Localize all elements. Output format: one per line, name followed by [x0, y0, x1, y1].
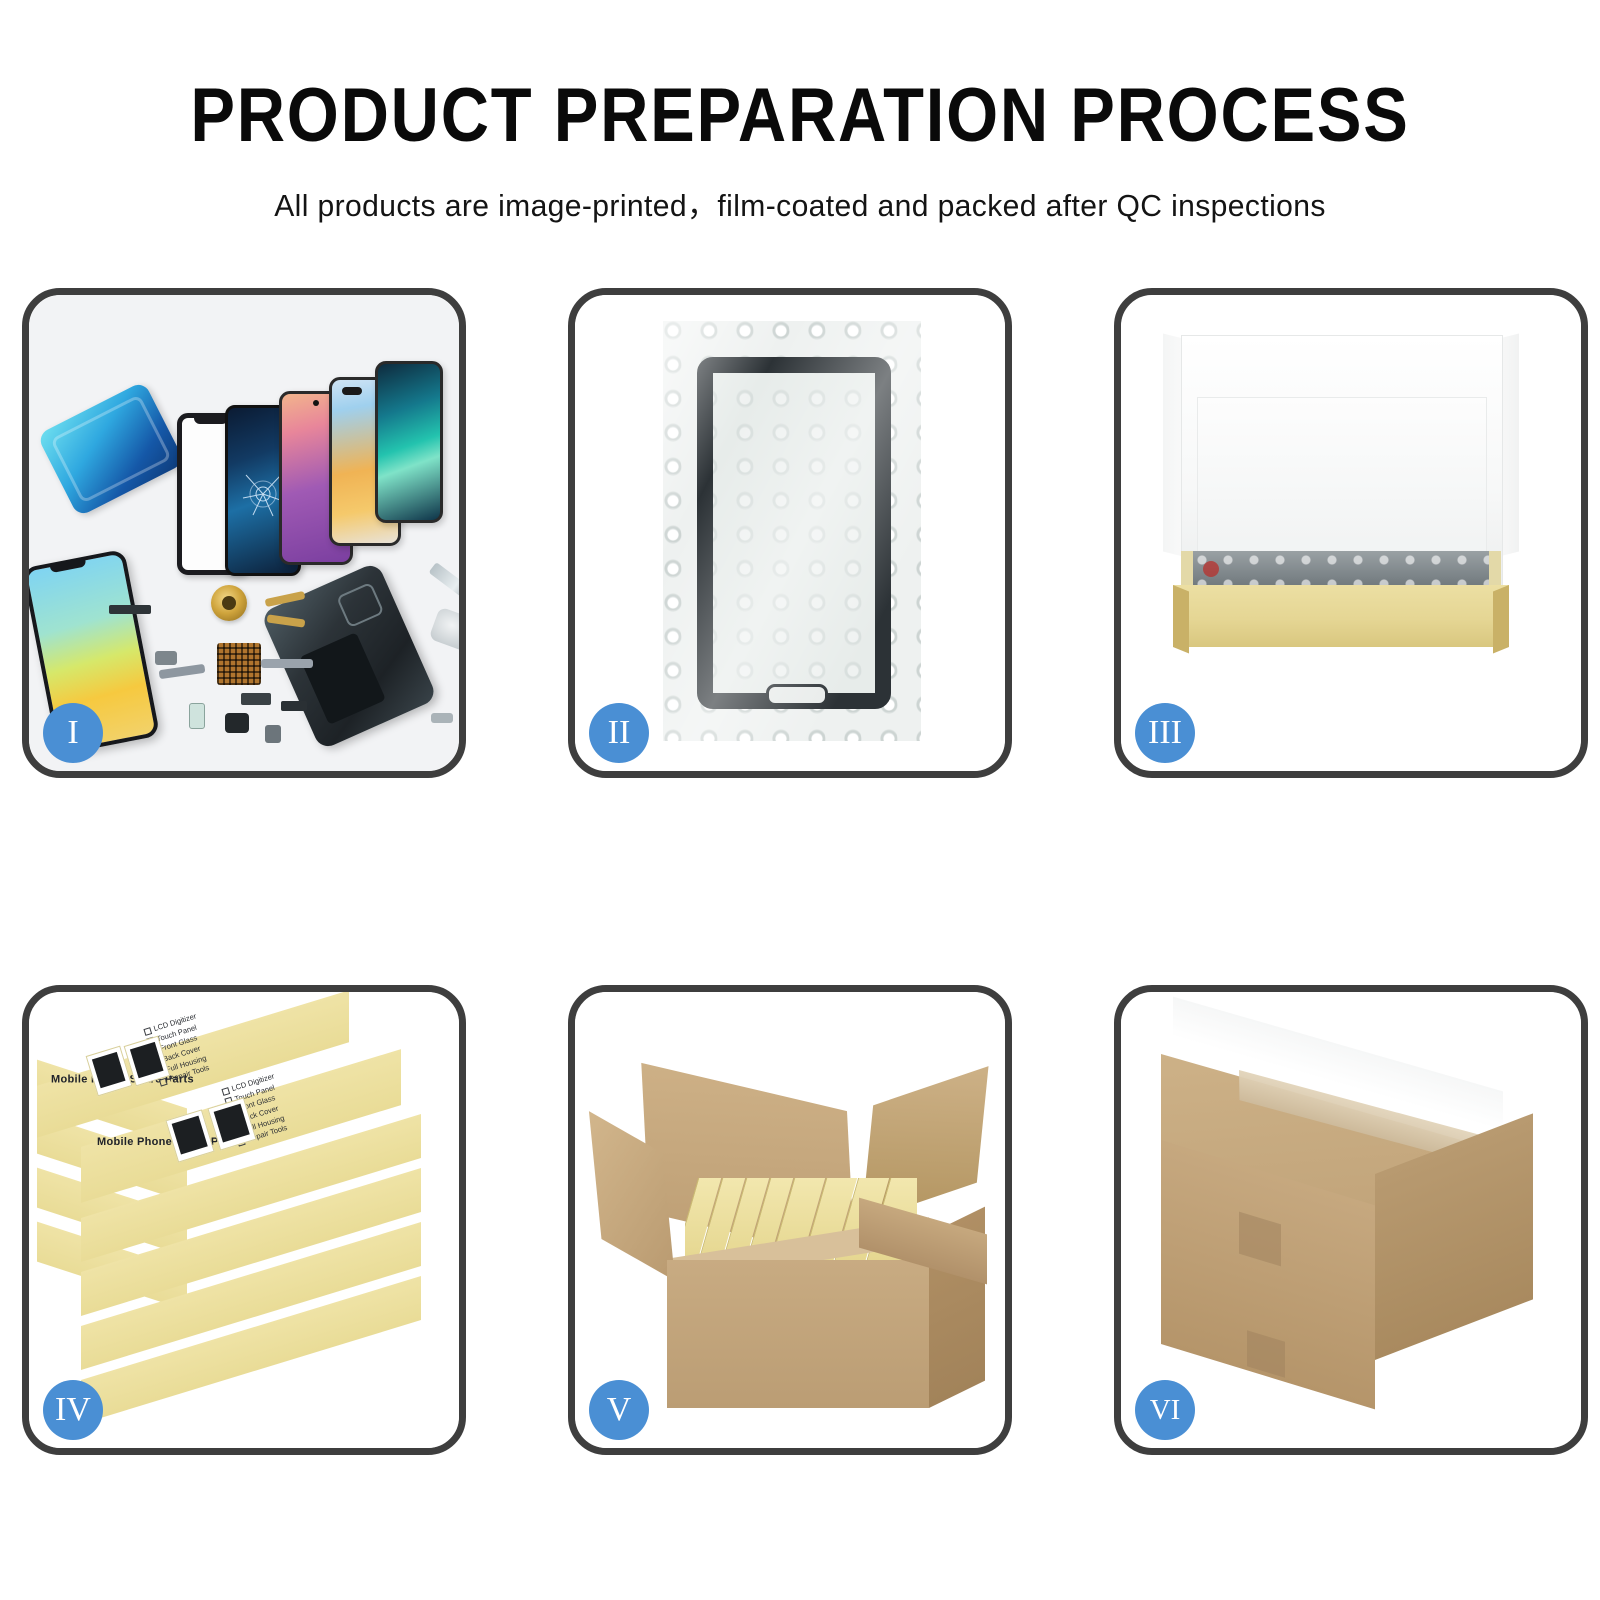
connector-part: [241, 693, 271, 705]
step-4-image: Mobile Phone Spare Parts LCD Digitizer T…: [29, 992, 459, 1448]
tweezers-tool: [429, 562, 459, 605]
vibration-motor-part: [265, 725, 281, 743]
sim-tray-part: [189, 703, 205, 729]
small-module-part: [281, 701, 307, 711]
foam-padding: [1197, 397, 1487, 559]
page-header: PRODUCT PREPARATION PROCESS All products…: [0, 0, 1600, 225]
camera-module-part: [155, 651, 177, 665]
carton-body: [667, 1260, 929, 1408]
retail-box-stack: Mobile Phone Spare Parts LCD Digitizer T…: [29, 992, 459, 1448]
step-3-image: [1121, 295, 1581, 771]
process-step-panel-2[interactable]: II: [568, 288, 1012, 778]
flex-cable-part: [159, 664, 206, 679]
back-housing-part: [260, 561, 438, 750]
step-5-image: [575, 992, 1005, 1448]
ic-chip-part: [217, 643, 261, 685]
step-badge-2: II: [589, 703, 649, 763]
speaker-part: [225, 713, 249, 733]
box-tray-front: [1173, 585, 1509, 647]
earpiece-part: [109, 605, 151, 614]
step-badge-1: I: [43, 703, 103, 763]
step-badge-6: VI: [1135, 1380, 1195, 1440]
step-6-image: [1121, 992, 1581, 1448]
process-step-panel-4[interactable]: Mobile Phone Spare Parts LCD Digitizer T…: [22, 985, 466, 1455]
step-badge-5: V: [589, 1380, 649, 1440]
step-badge-3: III: [1135, 703, 1195, 763]
product-photo-screen: [214, 1104, 250, 1143]
teal-display-phone: [375, 361, 443, 523]
step-2-image: [575, 295, 1005, 771]
page-title: PRODUCT PREPARATION PROCESS: [96, 78, 1504, 154]
screw-set-part: [431, 713, 453, 723]
product-photo-screen: [130, 1042, 164, 1078]
process-step-panel-6[interactable]: VI: [1114, 985, 1588, 1455]
adhesive-frame-part: [37, 381, 186, 517]
speaker-coil-part: [211, 585, 247, 621]
flex-cable-part: [261, 659, 313, 668]
battery-part: [299, 632, 386, 725]
product-photo-screen: [172, 1116, 208, 1155]
page-subtitle: All products are image-printed，film-coat…: [24, 180, 1576, 225]
product-photo-screen: [92, 1052, 126, 1088]
process-step-panel-3[interactable]: III: [1114, 288, 1588, 778]
step-1-image: [29, 295, 459, 771]
step-badge-4: IV: [43, 1380, 103, 1440]
repair-tool: [429, 607, 459, 654]
process-step-panel-1[interactable]: I: [22, 288, 466, 778]
wrapped-screen-panel: [697, 357, 891, 709]
process-step-panel-5[interactable]: V: [568, 985, 1012, 1455]
